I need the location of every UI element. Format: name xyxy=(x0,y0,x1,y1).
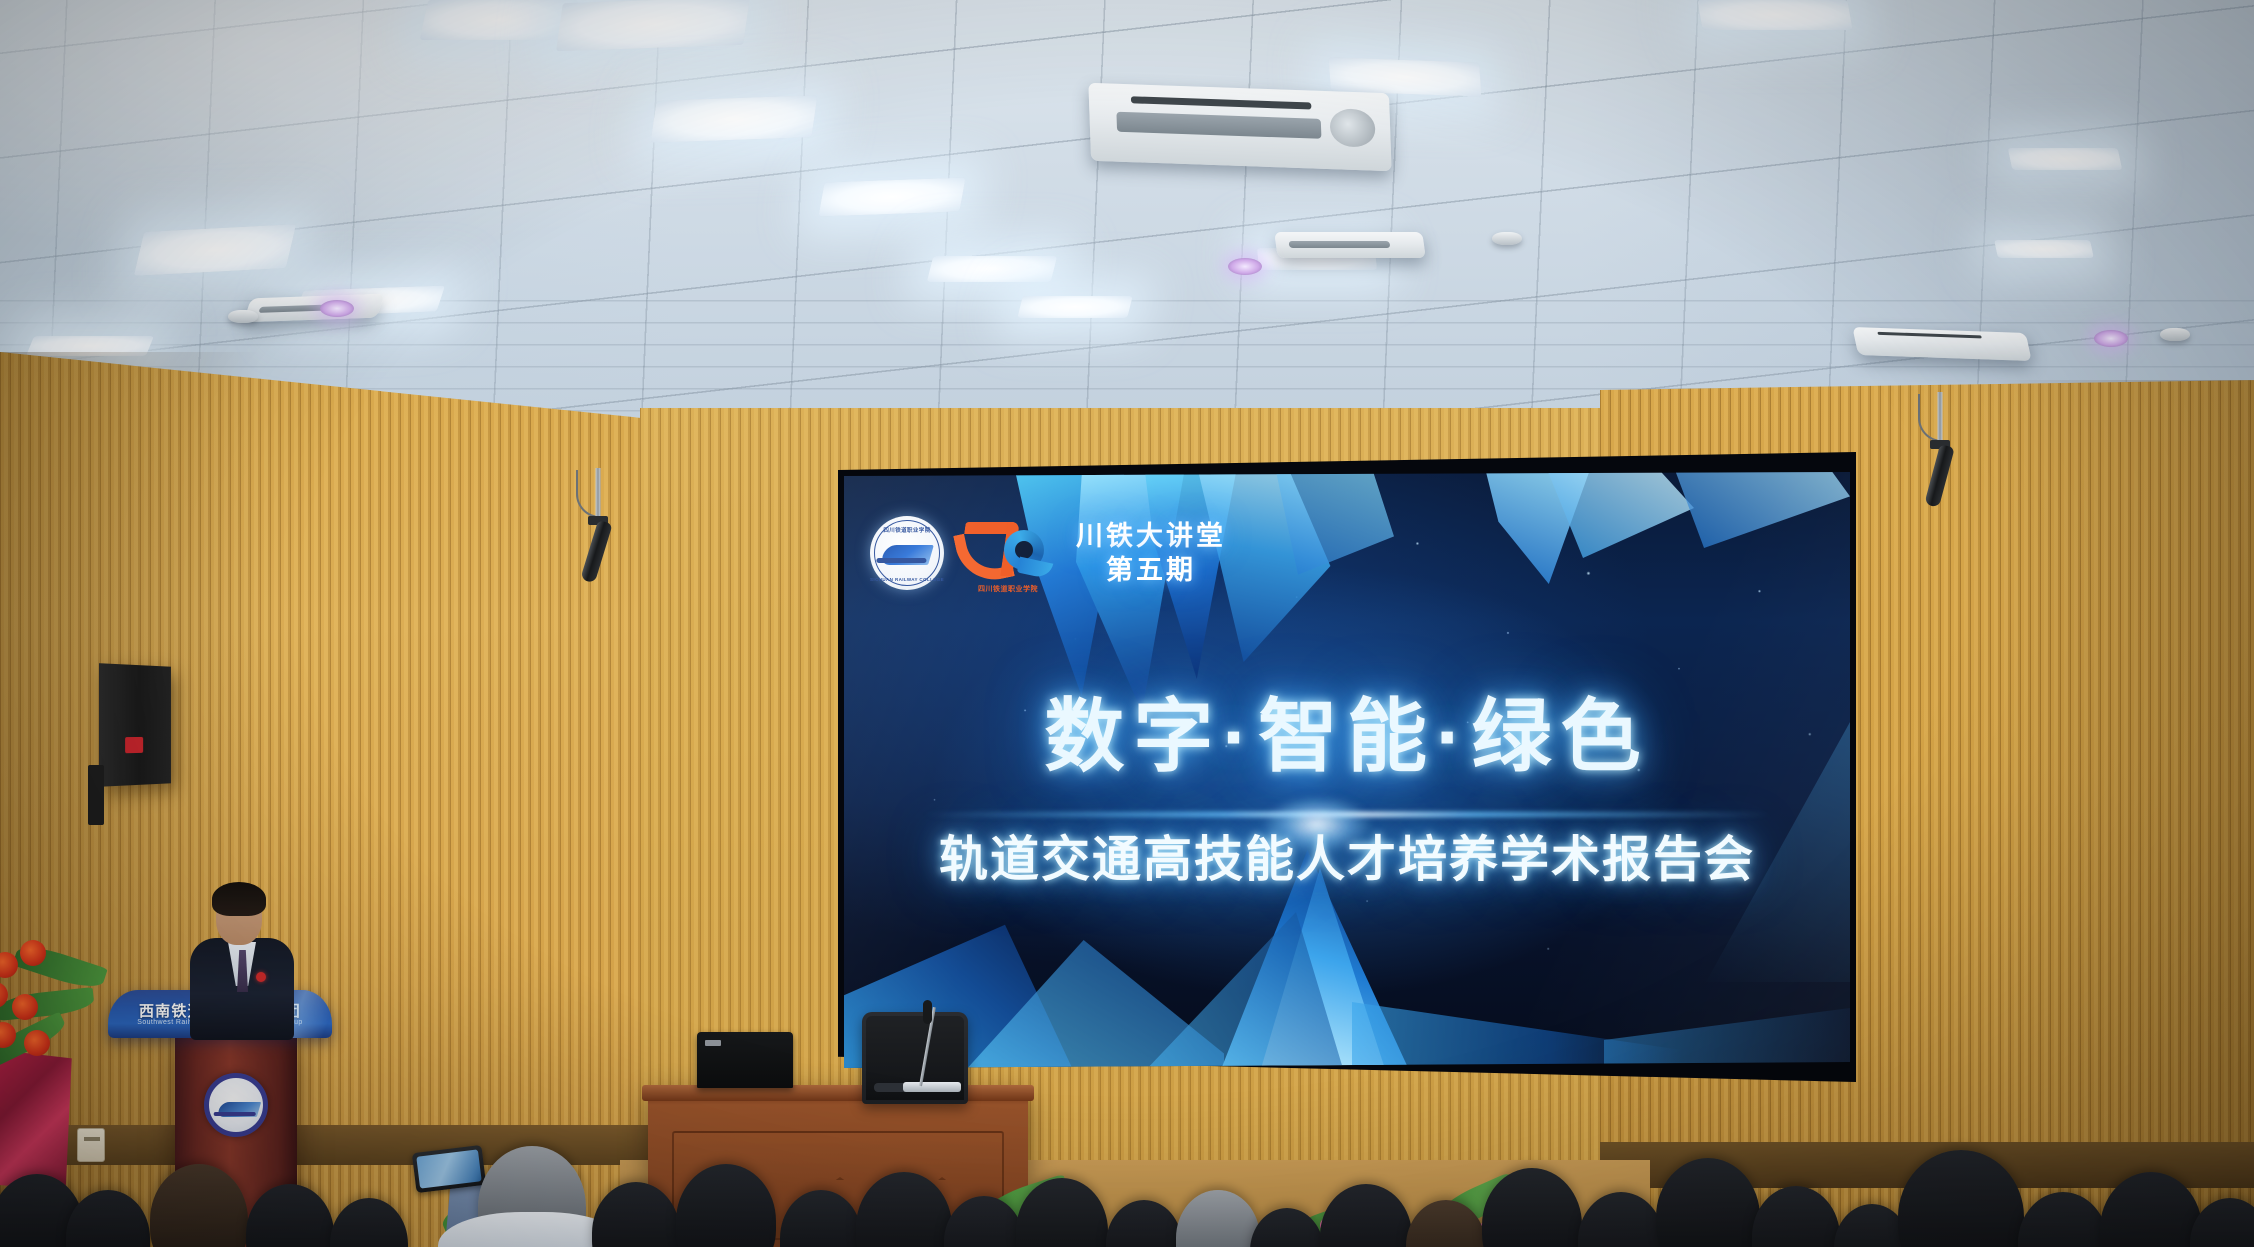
audience-head xyxy=(1656,1158,1760,1247)
ac-vent xyxy=(1289,241,1391,248)
college-emblem-icon: 四川铁道职业学院 SICHUAN RAILWAY COLLEGE xyxy=(870,516,944,590)
audience-head xyxy=(1898,1150,2024,1247)
laptop[interactable] xyxy=(697,1032,793,1088)
emblem-train-icon xyxy=(880,545,934,565)
ceiling xyxy=(0,0,2254,440)
speaker-badge xyxy=(256,972,266,982)
mic-rod xyxy=(1938,392,1943,444)
screen-surface: 四川铁道职业学院 SICHUAN RAILWAY COLLEGE 四川铁道职业学… xyxy=(844,472,1850,1068)
ceiling-spot-lamp xyxy=(1228,258,1262,275)
event-series-line1: 川铁大讲堂 xyxy=(1076,521,1226,551)
ceiling-panel-light xyxy=(1994,240,2094,258)
ceiling-ac-unit xyxy=(1274,232,1426,258)
audience-head xyxy=(66,1190,150,1247)
ceiling-panel-light xyxy=(2008,148,2123,170)
mic-rod xyxy=(596,468,601,520)
smoke-detector-icon xyxy=(1492,232,1522,245)
audience-head xyxy=(1578,1192,1664,1247)
ceiling-panel-light xyxy=(556,0,750,51)
conference-hall-photo: 四川铁道职业学院 SICHUAN RAILWAY COLLEGE 四川铁道职业学… xyxy=(0,0,2254,1247)
audience-head xyxy=(780,1190,862,1247)
microphone-base xyxy=(903,1082,961,1092)
event-series-title: 川铁大讲堂 第五期 xyxy=(1076,521,1226,585)
ceiling-light-falloff xyxy=(0,0,2254,440)
speaker-at-podium xyxy=(190,880,294,1040)
red-gerbera-icon xyxy=(12,994,38,1020)
audience-head xyxy=(1752,1186,1840,1247)
emblem-top-text: 四川铁道职业学院 xyxy=(870,526,944,534)
ceiling-panel-light xyxy=(651,95,818,143)
red-gerbera-icon xyxy=(24,1030,50,1056)
ceiling-spot-lamp xyxy=(2094,330,2128,347)
screen-header-row: 四川铁道职业学院 SICHUAN RAILWAY COLLEGE 四川铁道职业学… xyxy=(870,514,1226,592)
phone-screen xyxy=(416,1149,481,1188)
microphone-capsule-icon xyxy=(923,1000,932,1024)
audience-head xyxy=(2018,1192,2108,1247)
led-display-screen: 四川铁道职业学院 SICHUAN RAILWAY COLLEGE 四川铁道职业学… xyxy=(838,452,1856,1082)
ceiling-panel-light xyxy=(927,256,1057,282)
ceiling-panel-light xyxy=(819,178,966,217)
screen-subtitle: 轨道交通高技能人才培养学术报告会 xyxy=(844,820,1850,891)
red-gerbera-icon xyxy=(20,940,46,966)
audience-head xyxy=(150,1164,248,1247)
ceiling-panel-light xyxy=(420,0,579,40)
ac-vent xyxy=(1116,112,1321,139)
ac-vent-slot xyxy=(1878,332,1983,338)
ceiling-panel-light xyxy=(1017,296,1132,318)
wall-speaker xyxy=(99,663,171,787)
audience-head xyxy=(676,1164,776,1247)
event-series-line2: 第五期 xyxy=(1076,555,1226,585)
audience-head xyxy=(330,1198,408,1247)
podium-train-icon xyxy=(217,1102,261,1117)
audience-head xyxy=(246,1184,334,1247)
speaker-hair xyxy=(212,882,266,916)
ac-round-vent xyxy=(1329,108,1375,147)
ceiling-panel-light xyxy=(134,224,296,276)
ceiling-panel-light xyxy=(1697,0,1852,30)
ac-vent-slot xyxy=(1131,97,1312,110)
ceiling-panel-light xyxy=(1329,57,1482,96)
anniversary-tail-icon xyxy=(1017,557,1054,580)
gooseneck-microphone xyxy=(905,1000,945,1090)
audience-foreground xyxy=(0,1128,2254,1247)
smartphone-recording[interactable] xyxy=(412,1145,486,1193)
anniversary-caption: 四川铁道职业学院 xyxy=(978,584,1038,594)
ceiling-panel-light xyxy=(26,336,154,356)
smoke-detector-icon xyxy=(2160,328,2190,341)
smoke-detector-icon xyxy=(228,310,258,323)
ceiling-spot-lamp xyxy=(320,300,354,317)
audience-head xyxy=(1176,1190,1260,1247)
ceiling-ac-unit xyxy=(243,294,384,323)
anniversary-70-logo: 四川铁道职业学院 xyxy=(960,514,1060,592)
ceiling-ac-unit xyxy=(1088,83,1391,171)
speaker-bracket xyxy=(88,765,104,825)
screen-main-title: 数字·智能·绿色 xyxy=(844,672,1850,788)
speaker-brand-badge xyxy=(125,737,143,753)
emblem-bottom-text: SICHUAN RAILWAY COLLEGE xyxy=(870,577,944,582)
laptop-logo-icon xyxy=(705,1040,721,1046)
